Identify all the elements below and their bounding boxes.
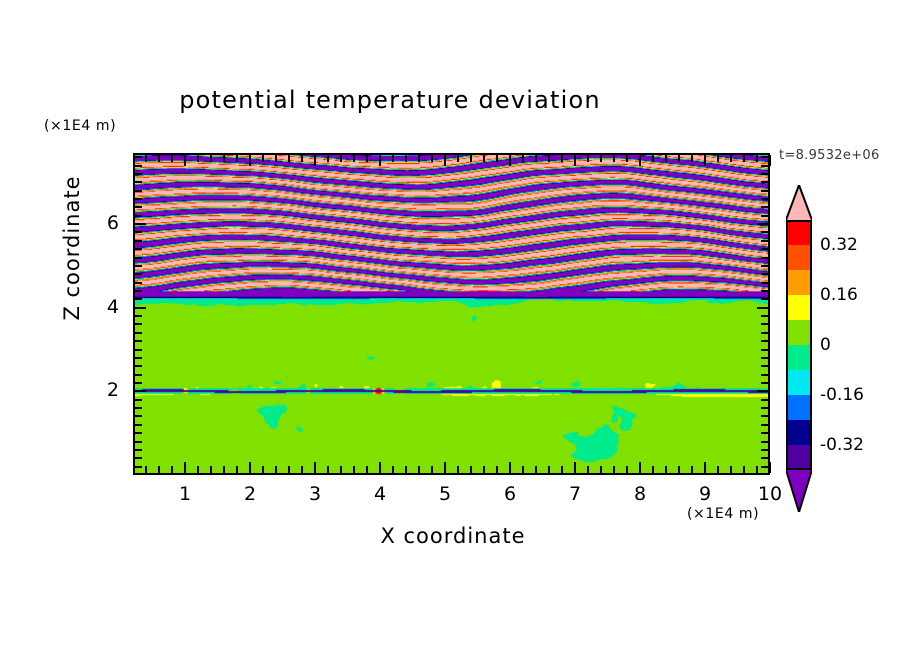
x-tick-bottom	[301, 466, 303, 473]
y-tick-left	[135, 273, 142, 275]
x-tick-bottom	[275, 466, 277, 473]
x-tick-top	[301, 155, 303, 162]
colorbar-band	[786, 320, 812, 345]
x-tick-top	[392, 155, 394, 162]
x-tick-top	[652, 155, 654, 162]
x-tick-bottom	[769, 462, 771, 473]
x-tick-bottom	[236, 466, 238, 473]
y-tick-right	[761, 215, 768, 217]
contour-field	[135, 155, 768, 473]
y-tick-left	[135, 181, 142, 183]
y-tick-right	[761, 315, 768, 317]
y-tick-right	[761, 365, 768, 367]
y-tick-left	[135, 215, 142, 217]
x-tick-top	[665, 155, 667, 162]
colorbar-tick-label: 0.16	[820, 285, 858, 305]
x-tick-top	[756, 155, 758, 162]
x-tick-bottom	[470, 466, 472, 473]
y-tick-right	[761, 173, 768, 175]
y-tick-left	[135, 173, 142, 175]
x-tick-top	[548, 155, 550, 162]
x-tick-bottom	[717, 466, 719, 473]
y-tick-left	[135, 240, 142, 242]
y-tick-left	[135, 349, 142, 351]
y-tick-right	[761, 290, 768, 292]
x-tick-top	[431, 155, 433, 162]
y-tick-left	[135, 198, 142, 200]
x-tick-bottom	[314, 462, 316, 473]
colorbar-band	[786, 370, 812, 395]
y-tick-right	[761, 282, 768, 284]
x-tick-top	[561, 155, 563, 162]
y-tick-right	[761, 231, 768, 233]
x-tick-bottom	[678, 466, 680, 473]
y-tick-right	[761, 357, 768, 359]
x-tick-top	[249, 155, 251, 166]
x-tick-top	[158, 155, 160, 162]
x-tick-top	[288, 155, 290, 162]
x-tick-bottom	[548, 466, 550, 473]
y-tick-right	[761, 407, 768, 409]
y-tick-left	[135, 457, 142, 459]
x-tick-bottom	[431, 466, 433, 473]
y-tick-right	[761, 273, 768, 275]
y-tick-left	[135, 315, 142, 317]
x-tick-top	[639, 155, 641, 166]
y-tick-right	[757, 307, 768, 309]
y-tick-right	[761, 240, 768, 242]
y-tick-left	[135, 190, 142, 192]
x-tick-bottom	[392, 466, 394, 473]
y-tick-right	[761, 399, 768, 401]
x-tick-top	[470, 155, 472, 162]
colorbar-tick-label: -0.32	[820, 435, 864, 455]
x-tick-bottom	[223, 466, 225, 473]
x-tick-bottom	[704, 462, 706, 473]
x-tick-top	[717, 155, 719, 162]
x-tick-top	[626, 155, 628, 162]
x-tick-top	[730, 155, 732, 162]
y-tick-right	[761, 415, 768, 417]
y-tick-right	[761, 457, 768, 459]
colorbar-tick-label: 0.32	[820, 235, 858, 255]
x-tick-label: 4	[360, 483, 400, 505]
y-tick-left	[135, 248, 142, 250]
y-tick-right	[761, 374, 768, 376]
x-tick-top	[327, 155, 329, 162]
x-tick-top	[743, 155, 745, 162]
x-tick-top	[600, 155, 602, 162]
x-tick-bottom	[340, 466, 342, 473]
y-tick-right	[761, 349, 768, 351]
x-tick-bottom	[184, 462, 186, 473]
y-tick-label: 4	[79, 296, 119, 318]
y-tick-right	[761, 190, 768, 192]
colorbar-band	[786, 295, 812, 320]
x-tick-top	[613, 155, 615, 162]
x-tick-top	[210, 155, 212, 162]
x-tick-bottom	[561, 466, 563, 473]
y-tick-left	[135, 415, 142, 417]
x-tick-top	[691, 155, 693, 162]
x-tick-bottom	[444, 462, 446, 473]
y-tick-left	[135, 432, 142, 434]
x-tick-bottom	[210, 466, 212, 473]
x-axis-label: X coordinate	[273, 524, 633, 548]
x-tick-bottom	[626, 466, 628, 473]
x-tick-top	[704, 155, 706, 166]
x-tick-top	[678, 155, 680, 162]
y-tick-left	[135, 257, 142, 259]
colorbar-tick-label: 0	[820, 335, 831, 355]
x-tick-bottom	[353, 466, 355, 473]
x-tick-top	[353, 155, 355, 162]
x-tick-bottom	[535, 466, 537, 473]
y-tick-right	[761, 424, 768, 426]
y-tick-right	[761, 441, 768, 443]
time-annotation: t=8.9532e+06	[779, 148, 880, 163]
x-tick-bottom	[483, 466, 485, 473]
y-tick-left	[135, 382, 142, 384]
y-tick-right	[761, 323, 768, 325]
y-tick-left	[135, 231, 142, 233]
colorbar-band	[786, 270, 812, 295]
x-tick-top	[496, 155, 498, 162]
y-tick-left	[135, 466, 142, 468]
y-tick-left	[135, 407, 142, 409]
y-tick-right	[761, 382, 768, 384]
colorbar-tick-label: -0.16	[820, 385, 864, 405]
y-tick-right	[761, 156, 768, 158]
x-tick-bottom	[418, 466, 420, 473]
colorbar-band	[786, 245, 812, 270]
colorbar-band	[786, 445, 812, 470]
colorbar-arrow-outline	[786, 470, 812, 512]
y-tick-right	[761, 206, 768, 208]
x-tick-bottom	[171, 466, 173, 473]
y-tick-left	[135, 365, 142, 367]
colorbar-band	[786, 395, 812, 420]
x-tick-top	[509, 155, 511, 166]
x-tick-top	[418, 155, 420, 162]
y-tick-left	[135, 265, 142, 267]
y-tick-right	[761, 181, 768, 183]
x-axis-units: (×1E4 m)	[687, 506, 759, 522]
x-tick-top	[314, 155, 316, 166]
x-tick-bottom	[652, 466, 654, 473]
x-tick-bottom	[457, 466, 459, 473]
y-tick-left	[135, 298, 142, 300]
x-tick-top	[522, 155, 524, 162]
x-tick-top	[184, 155, 186, 166]
x-tick-bottom	[405, 466, 407, 473]
y-tick-left	[135, 290, 142, 292]
x-tick-top	[405, 155, 407, 162]
y-tick-right	[761, 298, 768, 300]
y-tick-left	[135, 223, 146, 225]
z-axis-units: (×1E4 m)	[44, 118, 116, 134]
y-tick-label: 6	[79, 212, 119, 234]
x-tick-bottom	[249, 462, 251, 473]
y-tick-right	[761, 449, 768, 451]
x-tick-top	[769, 155, 771, 166]
y-tick-left	[135, 206, 142, 208]
x-tick-top	[574, 155, 576, 166]
x-tick-label: 10	[750, 483, 790, 505]
x-tick-top	[366, 155, 368, 162]
colorbar-band	[786, 345, 812, 370]
x-tick-bottom	[613, 466, 615, 473]
x-tick-top	[483, 155, 485, 162]
x-tick-bottom	[366, 466, 368, 473]
x-tick-bottom	[197, 466, 199, 473]
x-tick-bottom	[691, 466, 693, 473]
y-tick-left	[135, 399, 142, 401]
x-tick-bottom	[574, 462, 576, 473]
y-tick-left	[135, 332, 142, 334]
y-tick-left	[135, 449, 142, 451]
x-tick-top	[145, 155, 147, 162]
x-tick-top	[457, 155, 459, 162]
x-tick-top	[444, 155, 446, 166]
colorbar-band	[786, 220, 812, 245]
y-tick-left	[135, 390, 146, 392]
contour-plot	[133, 153, 770, 475]
x-tick-top	[223, 155, 225, 162]
y-tick-right	[761, 466, 768, 468]
x-tick-label: 9	[685, 483, 725, 505]
y-tick-right	[761, 165, 768, 167]
x-tick-top	[275, 155, 277, 162]
colorbar: 0.320.160-0.16-0.32	[786, 185, 812, 525]
y-tick-right	[761, 332, 768, 334]
x-tick-bottom	[730, 466, 732, 473]
x-tick-label: 2	[230, 483, 270, 505]
y-tick-left	[135, 156, 142, 158]
y-tick-right	[757, 390, 768, 392]
x-tick-bottom	[509, 462, 511, 473]
y-tick-right	[757, 223, 768, 225]
x-tick-bottom	[587, 466, 589, 473]
x-tick-bottom	[145, 466, 147, 473]
y-tick-right	[761, 340, 768, 342]
x-tick-label: 5	[425, 483, 465, 505]
y-tick-left	[135, 340, 142, 342]
x-tick-bottom	[665, 466, 667, 473]
x-tick-bottom	[158, 466, 160, 473]
x-tick-top	[379, 155, 381, 166]
y-tick-right	[761, 257, 768, 259]
x-tick-bottom	[600, 466, 602, 473]
y-tick-right	[761, 432, 768, 434]
x-tick-bottom	[379, 462, 381, 473]
y-tick-left	[135, 165, 142, 167]
x-tick-bottom	[639, 462, 641, 473]
x-tick-top	[171, 155, 173, 162]
y-tick-right	[761, 198, 768, 200]
y-tick-label: 2	[79, 379, 119, 401]
x-tick-top	[587, 155, 589, 162]
y-tick-left	[135, 374, 142, 376]
x-tick-label: 3	[295, 483, 335, 505]
y-tick-left	[135, 357, 142, 359]
x-tick-label: 7	[555, 483, 595, 505]
x-tick-label: 8	[620, 483, 660, 505]
y-tick-right	[761, 265, 768, 267]
x-tick-bottom	[262, 466, 264, 473]
y-tick-left	[135, 323, 142, 325]
page-title: potential temperature deviation	[0, 86, 780, 114]
x-tick-top	[197, 155, 199, 162]
x-tick-bottom	[288, 466, 290, 473]
colorbar-band	[786, 420, 812, 445]
x-tick-bottom	[756, 466, 758, 473]
y-tick-left	[135, 282, 142, 284]
x-tick-bottom	[522, 466, 524, 473]
x-tick-bottom	[327, 466, 329, 473]
x-tick-bottom	[743, 466, 745, 473]
x-tick-top	[262, 155, 264, 162]
y-tick-right	[761, 248, 768, 250]
y-tick-left	[135, 441, 142, 443]
x-tick-bottom	[496, 466, 498, 473]
colorbar-arrow-outline	[786, 185, 812, 220]
x-tick-label: 1	[165, 483, 205, 505]
x-tick-top	[535, 155, 537, 162]
x-tick-top	[236, 155, 238, 162]
y-tick-left	[135, 424, 142, 426]
x-tick-label: 6	[490, 483, 530, 505]
y-tick-left	[135, 307, 146, 309]
x-tick-top	[340, 155, 342, 162]
